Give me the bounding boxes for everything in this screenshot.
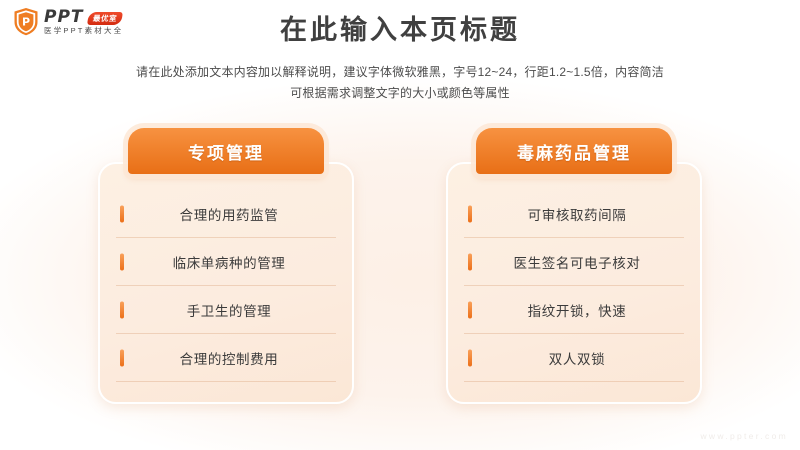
card-header-tab[interactable]: 专项管理 [128, 128, 324, 174]
list-item-label: 指纹开锁，快速 [464, 300, 684, 320]
card-title: 专项管理 [188, 139, 264, 164]
card-duma-yaopin-guanli: 毒麻药品管理 可审核取药间隔 医生签名可电子核对 指纹开锁，快速 [446, 128, 702, 404]
bullet-bar-icon [468, 301, 472, 318]
list-item-label: 双人双锁 [464, 348, 684, 368]
subtitle-line-2: 可根据需求调整文字的大小或颜色等属性 [0, 83, 800, 104]
list-item[interactable]: 双人双锁 [464, 334, 684, 382]
list-item-label: 手卫生的管理 [116, 300, 336, 320]
list-item[interactable]: 手卫生的管理 [116, 286, 336, 334]
list-item[interactable]: 临床单病种的管理 [116, 238, 336, 286]
slide-canvas: P PPT 最优室 医学PPT素材大全 在此输入本页标题 请在此处添加文本内容加… [0, 0, 800, 450]
bullet-bar-icon [120, 205, 124, 222]
card-zhuanxiang-guanli: 专项管理 合理的用药监管 临床单病种的管理 手卫生的管理 合 [98, 128, 354, 404]
list-item[interactable]: 可审核取药间隔 [464, 190, 684, 238]
list-item-label: 合理的用药监管 [116, 204, 336, 224]
card-body: 可审核取药间隔 医生签名可电子核对 指纹开锁，快速 双人双锁 [446, 162, 702, 404]
bullet-bar-icon [120, 253, 124, 270]
card-header-wrap: 毒麻药品管理 [446, 128, 702, 176]
cards-row: 专项管理 合理的用药监管 临床单病种的管理 手卫生的管理 合 [0, 128, 800, 404]
list-item[interactable]: 合理的用药监管 [116, 190, 336, 238]
list-item-label: 合理的控制费用 [116, 348, 336, 368]
list-item-label: 医生签名可电子核对 [464, 252, 684, 272]
list-item-label: 临床单病种的管理 [116, 252, 336, 272]
card-body: 合理的用药监管 临床单病种的管理 手卫生的管理 合理的控制费用 [98, 162, 354, 404]
list-item[interactable]: 合理的控制费用 [116, 334, 336, 382]
subtitle-line-1: 请在此处添加文本内容加以解释说明，建议字体微软雅黑，字号12~24，行距1.2~… [0, 62, 800, 83]
card-title: 毒麻药品管理 [517, 139, 631, 164]
list-item[interactable]: 医生签名可电子核对 [464, 238, 684, 286]
card-header-tab[interactable]: 毒麻药品管理 [476, 128, 672, 174]
bullet-bar-icon [468, 253, 472, 270]
bullet-bar-icon [468, 349, 472, 366]
bullet-bar-icon [120, 301, 124, 318]
list-item-label: 可审核取药间隔 [464, 204, 684, 224]
list-item[interactable]: 指纹开锁，快速 [464, 286, 684, 334]
page-title: 在此输入本页标题 [0, 14, 800, 46]
bullet-bar-icon [468, 205, 472, 222]
page-subtitle: 请在此处添加文本内容加以解释说明，建议字体微软雅黑，字号12~24，行距1.2~… [0, 62, 800, 104]
bullet-bar-icon [120, 349, 124, 366]
site-watermark: www.ppter.com [700, 431, 788, 441]
card-header-wrap: 专项管理 [98, 128, 354, 176]
